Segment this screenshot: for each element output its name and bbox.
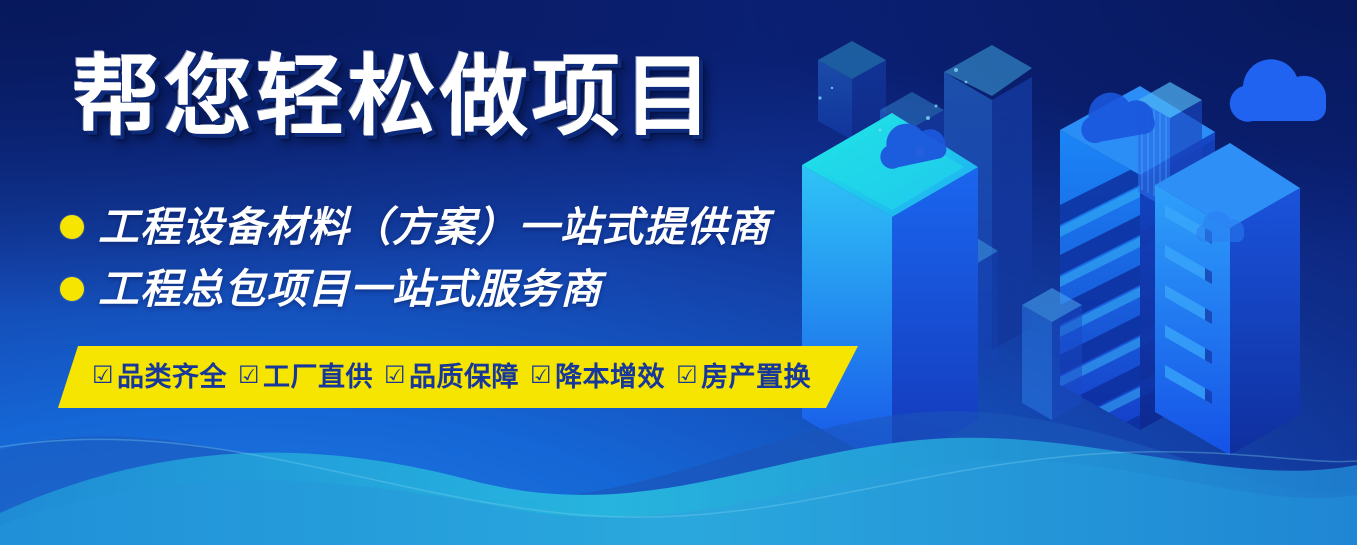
feature-list: ☑ 品类齐全 ☑ 工厂直供 ☑ 品质保障 ☑ 降本增效 ☑ 房产置换 bbox=[92, 346, 811, 408]
yellow-dot-icon bbox=[60, 215, 84, 239]
feature-strip: ☑ 品类齐全 ☑ 工厂直供 ☑ 品质保障 ☑ 降本增效 ☑ 房产置换 bbox=[58, 346, 858, 408]
page-title: 帮您轻松做项目 bbox=[72, 53, 716, 141]
list-item: 工程设备材料（方案）一站式提供商 bbox=[60, 196, 770, 258]
list-item: 工程总包项目一站式服务商 bbox=[60, 258, 770, 320]
feature-label: 品质保障 bbox=[409, 364, 519, 391]
checkbox-icon: ☑ bbox=[676, 364, 698, 388]
promo-banner: 帮您轻松做项目 工程设备材料（方案）一站式提供商 工程总包项目一站式服务商 ☑ … bbox=[0, 0, 1357, 545]
feature-item: ☑ 房产置换 bbox=[676, 364, 811, 391]
feature-item: ☑ 品类齐全 bbox=[92, 364, 227, 391]
checkbox-icon: ☑ bbox=[238, 364, 260, 388]
feature-item: ☑ 工厂直供 bbox=[238, 364, 373, 391]
feature-label: 品类齐全 bbox=[117, 364, 227, 391]
feature-label: 房产置换 bbox=[701, 364, 811, 391]
feature-label: 降本增效 bbox=[555, 364, 665, 391]
checkbox-icon: ☑ bbox=[92, 364, 114, 388]
checkbox-icon: ☑ bbox=[384, 364, 406, 388]
banner-content: 帮您轻松做项目 工程设备材料（方案）一站式提供商 工程总包项目一站式服务商 ☑ … bbox=[0, 0, 900, 545]
feature-item: ☑ 品质保障 bbox=[384, 364, 519, 391]
bullet-list: 工程设备材料（方案）一站式提供商 工程总包项目一站式服务商 bbox=[60, 196, 770, 320]
bullet-label: 工程总包项目一站式服务商 bbox=[98, 269, 602, 310]
checkbox-icon: ☑ bbox=[530, 364, 552, 388]
feature-item: ☑ 降本增效 bbox=[530, 364, 665, 391]
feature-label: 工厂直供 bbox=[263, 364, 373, 391]
yellow-dot-icon bbox=[60, 277, 84, 301]
bullet-label: 工程设备材料（方案）一站式提供商 bbox=[98, 207, 770, 248]
